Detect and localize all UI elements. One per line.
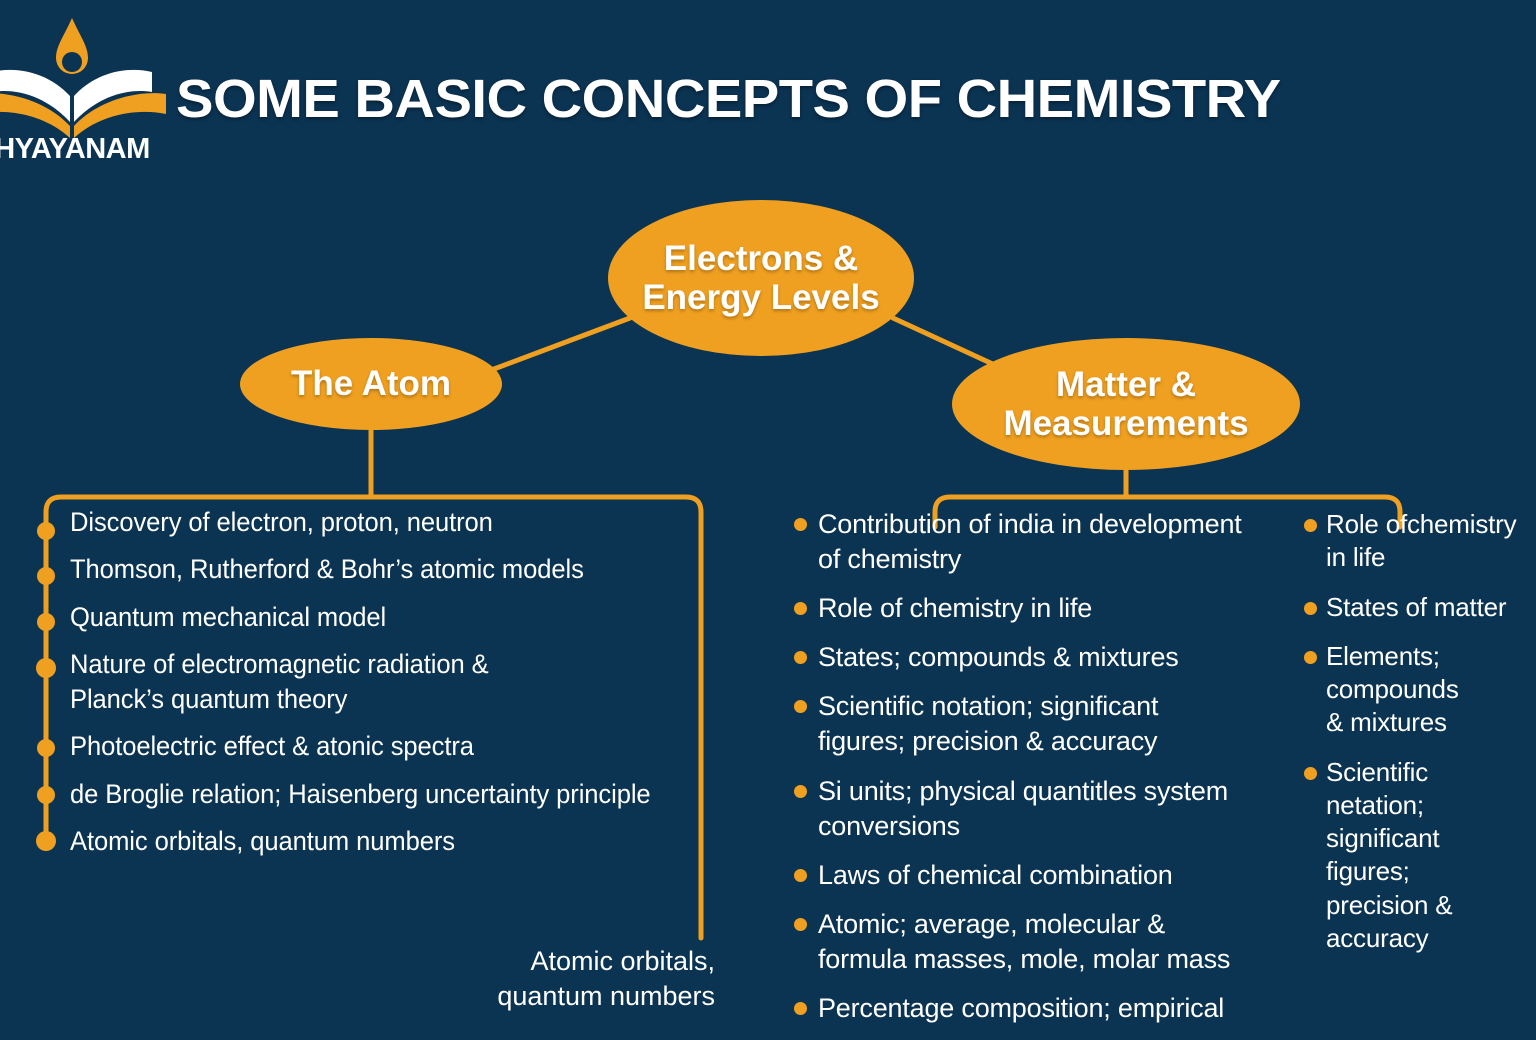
list-item-label: Elements; compounds & mixtures	[1326, 640, 1530, 740]
list-item-label: Quantum mechanical model	[70, 600, 711, 634]
list-item-label: States; compounds & mixtures	[818, 640, 1290, 675]
list-item[interactable]: de Broglie relation; Haisenberg uncertai…	[34, 777, 734, 811]
list-item-label: States of matter	[1326, 591, 1530, 624]
node-matter-measurements[interactable]: Matter & Measurements	[952, 338, 1300, 470]
list-item-label: Role ofchemistry in life	[1326, 508, 1530, 575]
list-item-label: Role of chemistry in life	[818, 591, 1290, 626]
list-item-label: Scientific netation; significant figures…	[1326, 756, 1530, 956]
node-the-atom[interactable]: The Atom	[240, 338, 502, 430]
list-item-label: Contribution of india in development of …	[818, 507, 1290, 577]
list-item[interactable]: Discovery of electron, proton, neutron	[34, 505, 734, 539]
list-item[interactable]: Nature of electromagnetic radiation & Pl…	[34, 647, 734, 716]
list-item-label: Atomic; average, molecular & formula mas…	[818, 907, 1290, 977]
node-right-label: Matter & Measurements	[993, 365, 1258, 443]
list-item-label: Nature of electromagnetic radiation & Pl…	[70, 647, 711, 716]
list-the-atom: Discovery of electron, proton, neutron T…	[34, 505, 734, 872]
list-item-label: Percentage composition; empirical	[818, 991, 1290, 1026]
book-flame-logo-icon	[0, 18, 166, 138]
list-item[interactable]: Quantum mechanical model	[34, 600, 734, 634]
list-item[interactable]: Si units; physical quantitles system con…	[790, 774, 1290, 844]
list-item[interactable]: States of matter	[1300, 591, 1530, 624]
list-item-label: Scientific notation; significant figures…	[818, 689, 1290, 759]
list-item[interactable]: Atomic orbitals, quantum numbers	[34, 824, 734, 858]
list-item-label: Thomson, Rutherford & Bohr’s atomic mode…	[70, 552, 711, 586]
node-center-label: Electrons & Energy Levels	[632, 239, 889, 317]
list-item[interactable]: Atomic; average, molecular & formula mas…	[790, 907, 1290, 977]
list-item[interactable]: Role ofchemistry in life	[1300, 508, 1530, 575]
edge-center-to-left	[486, 318, 630, 372]
list-item-label: Discovery of electron, proton, neutron	[70, 505, 711, 539]
list-item[interactable]: Elements; compounds & mixtures	[1300, 640, 1530, 740]
list-matter-measurements-primary: Contribution of india in development of …	[790, 507, 1290, 1040]
brand-wordmark: HYAYANAM	[0, 133, 150, 162]
list-item[interactable]: Laws of chemical combination	[790, 858, 1290, 893]
list-item[interactable]: Scientific netation; significant figures…	[1300, 756, 1530, 956]
list-item[interactable]: Scientific notation; significant figures…	[790, 689, 1290, 759]
list-item-label: Laws of chemical combination	[818, 858, 1290, 893]
list-item-label: Si units; physical quantitles system con…	[818, 774, 1290, 844]
list-item-label: Atomic orbitals, quantum numbers	[70, 824, 711, 858]
brand-logo: HYAYANAM	[0, 10, 172, 162]
list-item-label: de Broglie relation; Haisenberg uncertai…	[70, 777, 711, 811]
node-left-label: The Atom	[281, 364, 461, 403]
list-item[interactable]: Photoelectric effect & atonic spectra	[34, 729, 734, 763]
node-electrons-energy-levels[interactable]: Electrons & Energy Levels	[608, 200, 914, 356]
list-matter-measurements-secondary: Role ofchemistry in life States of matte…	[1300, 508, 1530, 971]
list-item[interactable]: Contribution of india in development of …	[790, 507, 1290, 577]
list-item-label: Photoelectric effect & atonic spectra	[70, 729, 711, 763]
list-item[interactable]: Percentage composition; empirical	[790, 991, 1290, 1026]
slide-canvas: HYAYANAM SOME BASIC CONCEPTS OF CHEMISTR…	[0, 0, 1536, 1024]
caption-atomic-orbitals: Atomic orbitals, quantum numbers	[455, 944, 715, 1013]
page-title: SOME BASIC CONCEPTS OF CHEMISTRY	[176, 68, 1281, 130]
list-item[interactable]: Role of chemistry in life	[790, 591, 1290, 626]
list-item[interactable]: States; compounds & mixtures	[790, 640, 1290, 675]
list-item[interactable]: Thomson, Rutherford & Bohr’s atomic mode…	[34, 552, 734, 586]
